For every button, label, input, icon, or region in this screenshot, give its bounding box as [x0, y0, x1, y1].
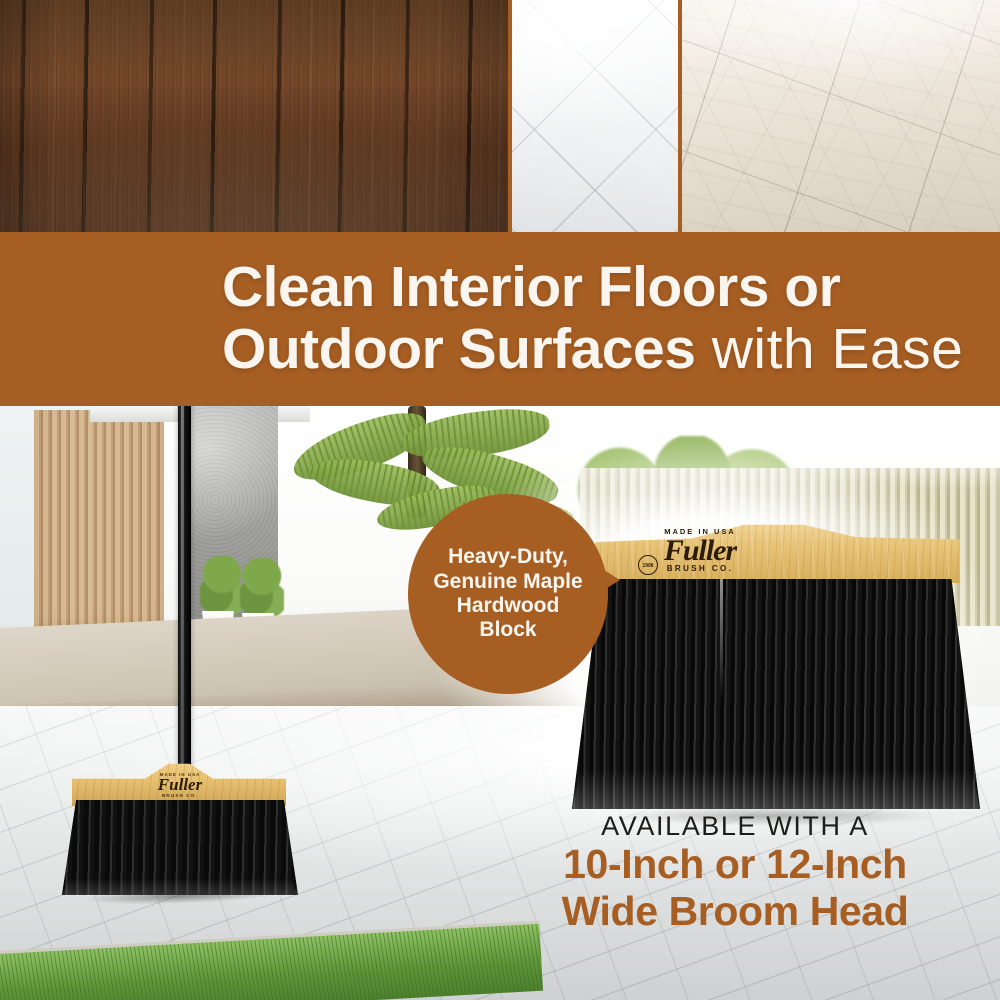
tile-gloss	[512, 0, 678, 233]
available-with-a-label: AVAILABLE WITH A	[500, 812, 970, 842]
full-broom-product: MADE IN USA Fuller BRUSH CO.	[0, 406, 400, 1000]
handle-highlight	[181, 406, 184, 790]
product-marketing-image: MADE IN USA Fuller BRUSH CO. 1906 MADE I…	[0, 0, 1000, 1000]
size-line-2: Wide Broom Head	[500, 889, 970, 935]
headline-light-part: with Ease	[695, 317, 963, 381]
made-in-usa-text: MADE IN USA	[120, 772, 240, 777]
headline-line-2: Outdoor Surfaces with Ease	[222, 321, 982, 379]
floor-type-strip	[0, 0, 1000, 233]
fuller-script-text: Fuller	[120, 777, 240, 793]
brush-co-text: BRUSH CO.	[120, 793, 240, 798]
hardwood-floor-panel	[0, 0, 508, 233]
callout-text: Heavy-Duty, Genuine Maple Hardwood Block	[408, 494, 608, 694]
fuller-brand-logo: MADE IN USA Fuller BRUSH CO. 1906	[620, 527, 780, 573]
size-availability-block: AVAILABLE WITH A 10-Inch or 12-Inch Wide…	[500, 812, 970, 935]
marble-floor-panel	[682, 0, 1000, 233]
headline-line-1: Clean Interior Floors or	[222, 259, 982, 317]
bristle-seam	[720, 579, 723, 699]
broom-handle	[178, 406, 191, 790]
headline-bold-part: Outdoor Surfaces	[222, 317, 695, 381]
fuller-brand-logo: MADE IN USA Fuller BRUSH CO.	[120, 772, 240, 802]
callout-line-1: Heavy-Duty,	[448, 545, 568, 569]
size-line-1: 10-Inch or 12-Inch	[500, 842, 970, 888]
headline-banner: Clean Interior Floors or Outdoor Surface…	[0, 232, 1000, 406]
callout-line-4: Block	[479, 618, 536, 642]
hardwood-shading	[0, 0, 508, 233]
marble-gloss	[682, 0, 1000, 233]
est-1906-seal-icon: 1906	[638, 555, 658, 575]
callout-line-2: Genuine Maple	[433, 570, 582, 594]
hardwood-block-callout-badge: Heavy-Duty, Genuine Maple Hardwood Block	[408, 494, 608, 694]
white-tile-floor-panel	[512, 0, 678, 233]
callout-line-3: Hardwood	[457, 594, 560, 618]
